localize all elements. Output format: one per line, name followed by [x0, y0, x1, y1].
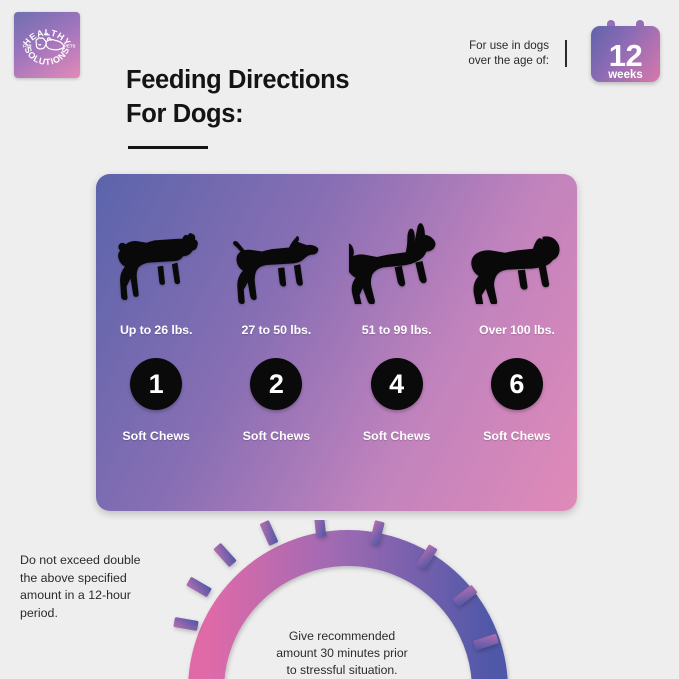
- age-requirement-label: For use in dogs over the age of:: [468, 38, 549, 69]
- dosage-column-small: Up to 26 lbs. 1 Soft Chews: [96, 174, 216, 511]
- small-terrier-dog-icon: [108, 208, 204, 304]
- xlarge-mastiff-dog-icon: [469, 208, 565, 304]
- dose-count-badge: 4: [371, 358, 423, 410]
- title-underline-rule: [128, 146, 208, 149]
- calendar-age-number: 12: [591, 40, 660, 71]
- weight-range-label: 51 to 99 lbs.: [362, 323, 432, 337]
- svg-text:PETS: PETS: [64, 44, 75, 49]
- calendar-icon: 12 weeks: [591, 26, 660, 82]
- dial-tick: [260, 520, 279, 546]
- dose-count-badge: 6: [491, 358, 543, 410]
- dose-count-badge: 1: [130, 358, 182, 410]
- dose-unit-label: Soft Chews: [122, 429, 189, 443]
- dial-tick: [173, 617, 198, 631]
- calendar-badge: 12 weeks: [591, 20, 660, 82]
- dose-unit-label: Soft Chews: [243, 429, 310, 443]
- dosage-card: Up to 26 lbs. 1 Soft Chews 27 to 50 lbs.…: [96, 174, 577, 511]
- dose-unit-label: Soft Chews: [483, 429, 550, 443]
- medium-dog-icon: [228, 208, 324, 304]
- svg-text:FOR: FOR: [23, 44, 32, 49]
- calendar-age-unit: weeks: [591, 70, 660, 82]
- dose-unit-label: Soft Chews: [363, 429, 430, 443]
- weight-range-label: 27 to 50 lbs.: [242, 323, 312, 337]
- healthy-solutions-logo: HEALTHY SOLUTIONS FOR PETS: [14, 12, 80, 78]
- dosage-column-large: 51 to 99 lbs. 4 Soft Chews: [337, 174, 457, 511]
- vertical-divider: [565, 40, 567, 67]
- dosage-column-xlarge: Over 100 lbs. 6 Soft Chews: [457, 174, 577, 511]
- dosage-columns: Up to 26 lbs. 1 Soft Chews 27 to 50 lbs.…: [96, 174, 577, 511]
- page-title: Feeding Directions For Dogs:: [126, 64, 349, 132]
- dosage-column-medium: 27 to 50 lbs. 2 Soft Chews: [216, 174, 336, 511]
- timing-instruction-text: Give recommended amount 30 minutes prior…: [238, 628, 446, 678]
- logo-artwork: HEALTHY SOLUTIONS FOR PETS: [14, 12, 80, 78]
- dial-tick: [186, 577, 212, 598]
- dose-count-badge: 2: [250, 358, 302, 410]
- large-shepherd-dog-icon: [349, 208, 445, 304]
- weight-range-label: Over 100 lbs.: [479, 323, 555, 337]
- weight-range-label: Up to 26 lbs.: [120, 323, 192, 337]
- dial-tick: [213, 543, 236, 568]
